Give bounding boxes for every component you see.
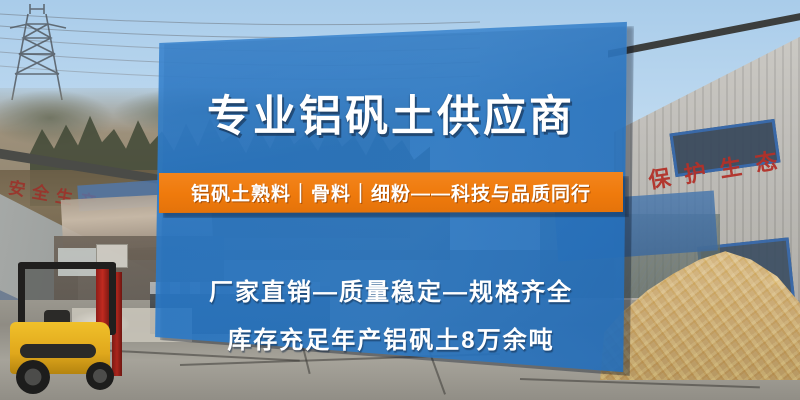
subtitle-line-2: 库存充足年产铝矾土8万余吨 — [155, 320, 627, 355]
forklift-rear-wheel — [16, 360, 50, 394]
panel-content: 专业铝矾土供应商 铝矾土熟料｜骨料｜细粉——科技与品质同行 厂家直销—质量稳定—… — [155, 20, 627, 386]
bauxite-supplier-banner: 安全生产 保护生态 — [0, 0, 800, 400]
highlight-bar-text: 铝矾土熟料｜骨料｜细粉——科技与品质同行 — [191, 179, 591, 206]
subtitle-line-1: 厂家直销—质量稳定—规格齐全 — [155, 272, 627, 307]
headline-title: 专业铝矾土供应商 — [155, 82, 627, 144]
forklift-front-wheel — [86, 362, 114, 390]
forklift-counterweight — [20, 344, 96, 358]
power-transmission-tower-icon — [4, 2, 70, 102]
highlight-bar: 铝矾土熟料｜骨料｜细粉——科技与品质同行 — [159, 172, 623, 213]
